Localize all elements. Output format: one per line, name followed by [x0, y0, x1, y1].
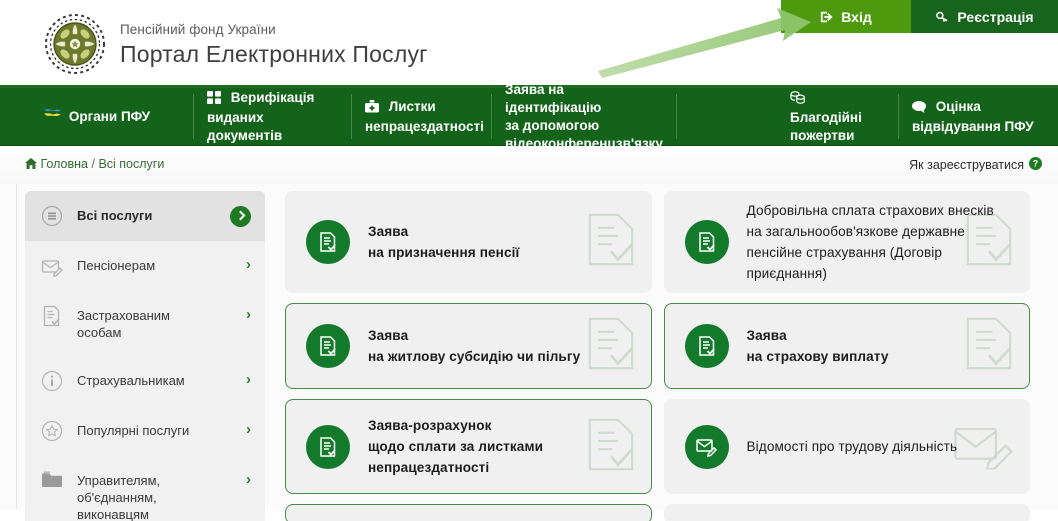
- document-check-icon: [585, 317, 637, 376]
- nav-item-organs[interactable]: Органи ПФУ: [0, 88, 193, 145]
- nav-item-verification-label: Верифікація: [231, 90, 315, 105]
- nav-item-donations-label2: пожертви: [790, 127, 884, 145]
- nav-item-video-identification-label2: за допомогою: [505, 117, 663, 135]
- sidebar-item-insurers-label: Страхувальникам: [77, 356, 215, 404]
- sidebar-item-popular-services-label: Популярні послуги: [77, 406, 215, 454]
- breadcrumb-strip: Головна / Всі послуги Як зареєструватися…: [0, 146, 1058, 184]
- folder-icon: [41, 456, 63, 494]
- service-card-next-row-left[interactable]: [285, 504, 652, 521]
- service-card-next-row-right[interactable]: [664, 504, 1031, 521]
- chevron-right-circle-icon[interactable]: [229, 191, 251, 232]
- info-circle-icon: [41, 356, 63, 397]
- nav-item-sick-leave-label2: непрацездатності: [365, 118, 484, 136]
- nav-item-verification[interactable]: Верифікація виданих документів: [193, 88, 351, 145]
- grid-documents-icon: [207, 91, 221, 109]
- donation-coins-icon: [790, 91, 805, 109]
- page-root: Пенсійний фонд України Портал Електронни…: [0, 0, 1058, 521]
- breadcrumb[interactable]: Головна / Всі послуги: [25, 157, 164, 171]
- org-name: Пенсійний фонд України: [120, 21, 428, 38]
- sidebar-item-pensioners-label: Пенсіонерам: [77, 241, 215, 289]
- nav-item-sick-leave-label: Листки: [389, 99, 436, 114]
- service-card-sick-leave-calculation-label: Заява-розрахунок щодо сплати за листками…: [368, 415, 543, 478]
- nav-item-visit-rating[interactable]: Оцінка відвідування ПФУ: [898, 88, 1058, 145]
- breadcrumb-current-label: Всі послуги: [98, 157, 164, 171]
- document-check-icon: [306, 220, 350, 264]
- document-check-icon: [963, 317, 1015, 376]
- speech-bubble-icon: [912, 100, 926, 118]
- service-card-pension-application[interactable]: Заява на призначення пенсії: [285, 191, 652, 293]
- service-card-housing-subsidy[interactable]: Заява на житлову субсидію чи пільгу: [285, 303, 652, 389]
- document-check-icon: [585, 417, 637, 476]
- sidebar-item-popular-services[interactable]: Популярні послуги ›: [25, 406, 265, 456]
- envelope-pencil-icon: [685, 425, 729, 469]
- service-card-employment-records[interactable]: Відомості про трудову діяльність: [664, 399, 1031, 494]
- login-button[interactable]: Вхід: [781, 0, 911, 33]
- nav-item-video-identification-label: Заява на ідентифікацію: [505, 81, 663, 117]
- ukraine-flag-icon: [43, 107, 63, 126]
- nav-item-visit-rating-label2: відвідування ПФУ: [912, 118, 1034, 136]
- svg-text:?: ?: [1033, 159, 1038, 169]
- sidebar-menu: Всі послуги Пенсіонерам ›: [25, 191, 265, 521]
- document-check-icon: [685, 220, 729, 264]
- service-card-insurance-payment[interactable]: Заява на страхову виплату: [664, 303, 1031, 389]
- nav-item-donations-label: Благодійні: [790, 110, 862, 125]
- document-check-icon: [306, 324, 350, 368]
- key-icon: [935, 10, 950, 24]
- login-button-label: Вхід: [841, 9, 872, 25]
- question-circle-icon: ?: [1029, 157, 1042, 173]
- service-card-employment-records-label: Відомості про трудову діяльність: [747, 436, 958, 457]
- auth-buttons: Вхід Реєстрація: [781, 0, 1058, 33]
- sidebar-item-utility-managers-label: Управителям, об'єднанням, виконавцям ком…: [77, 456, 215, 521]
- how-to-register-label: Як зареєструватися: [909, 158, 1024, 172]
- home-icon: [25, 157, 40, 171]
- nav-item-video-identification[interactable]: Заява на ідентифікацію за допомогою віде…: [491, 88, 676, 145]
- service-card-voluntary-contributions[interactable]: Добровільна сплата страхових внесків на …: [664, 191, 1031, 293]
- list-circle-icon: [41, 191, 63, 232]
- register-button-label: Реєстрація: [957, 9, 1033, 25]
- service-card-insurance-payment-label: Заява на страхову виплату: [747, 325, 889, 367]
- brand[interactable]: Пенсійний фонд України Портал Електронни…: [44, 13, 428, 75]
- sidebar-item-pensioners[interactable]: Пенсіонерам ›: [25, 241, 265, 291]
- breadcrumb-separator: /: [91, 157, 94, 171]
- chevron-right-icon[interactable]: ›: [229, 406, 251, 439]
- nav-item-organs-label: Органи ПФУ: [69, 108, 150, 126]
- how-to-register-link[interactable]: Як зареєструватися ?: [909, 157, 1042, 173]
- services-grid: Заява на призначення пенсії: [285, 191, 1030, 521]
- chevron-right-icon[interactable]: ›: [229, 291, 251, 324]
- page-title: Портал Електронних Послуг: [120, 40, 428, 68]
- sidebar-item-all-services[interactable]: Всі послуги: [25, 191, 265, 241]
- nav-item-verification-label2: виданих документів: [207, 109, 337, 145]
- service-card-voluntary-contributions-label: Добровільна сплата страхових внесків на …: [747, 200, 994, 284]
- breadcrumb-home-label[interactable]: Головна: [40, 157, 88, 171]
- service-card-pension-application-label: Заява на призначення пенсії: [368, 221, 519, 263]
- medical-case-icon: [365, 100, 379, 118]
- envelope-pencil-icon: [41, 241, 63, 282]
- star-circle-icon: [41, 406, 63, 447]
- nav-item-visit-rating-label: Оцінка: [936, 99, 981, 114]
- content-area: Всі послуги Пенсіонерам ›: [0, 184, 1058, 509]
- main-navigation: Органи ПФУ Верифікація виданих документі…: [0, 88, 1058, 146]
- nav-item-sick-leave[interactable]: Листки непрацездатності: [351, 88, 491, 145]
- chevron-right-icon[interactable]: ›: [229, 456, 251, 489]
- sidebar-item-insured-persons[interactable]: Застрахованим особам ›: [25, 291, 265, 356]
- nav-item-donations[interactable]: Благодійні пожертви: [776, 88, 898, 145]
- site-header: Пенсійний фонд України Портал Електронни…: [0, 0, 1058, 88]
- sidebar-item-insurers[interactable]: Страхувальникам ›: [25, 356, 265, 406]
- document-check-icon: [41, 291, 63, 332]
- pfu-emblem-icon: [44, 13, 106, 75]
- service-card-housing-subsidy-label: Заява на житлову субсидію чи пільгу: [368, 325, 580, 367]
- left-rule-divider: [16, 184, 17, 509]
- service-card-sick-leave-calculation[interactable]: Заява-розрахунок щодо сплати за листками…: [285, 399, 652, 494]
- sidebar-item-utility-managers[interactable]: Управителям, об'єднанням, виконавцям ком…: [25, 456, 265, 521]
- chevron-right-icon[interactable]: ›: [229, 241, 251, 274]
- register-button[interactable]: Реєстрація: [911, 0, 1058, 33]
- envelope-pencil-icon: [953, 419, 1015, 474]
- sign-in-icon: [820, 10, 834, 24]
- document-check-icon: [585, 213, 637, 272]
- sidebar-item-all-services-label: Всі послуги: [77, 191, 215, 239]
- nav-spacer: [676, 88, 776, 145]
- sidebar-item-insured-persons-label: Застрахованим особам: [77, 291, 215, 356]
- document-check-icon: [306, 425, 350, 469]
- document-check-icon: [685, 324, 729, 368]
- chevron-right-icon[interactable]: ›: [229, 356, 251, 389]
